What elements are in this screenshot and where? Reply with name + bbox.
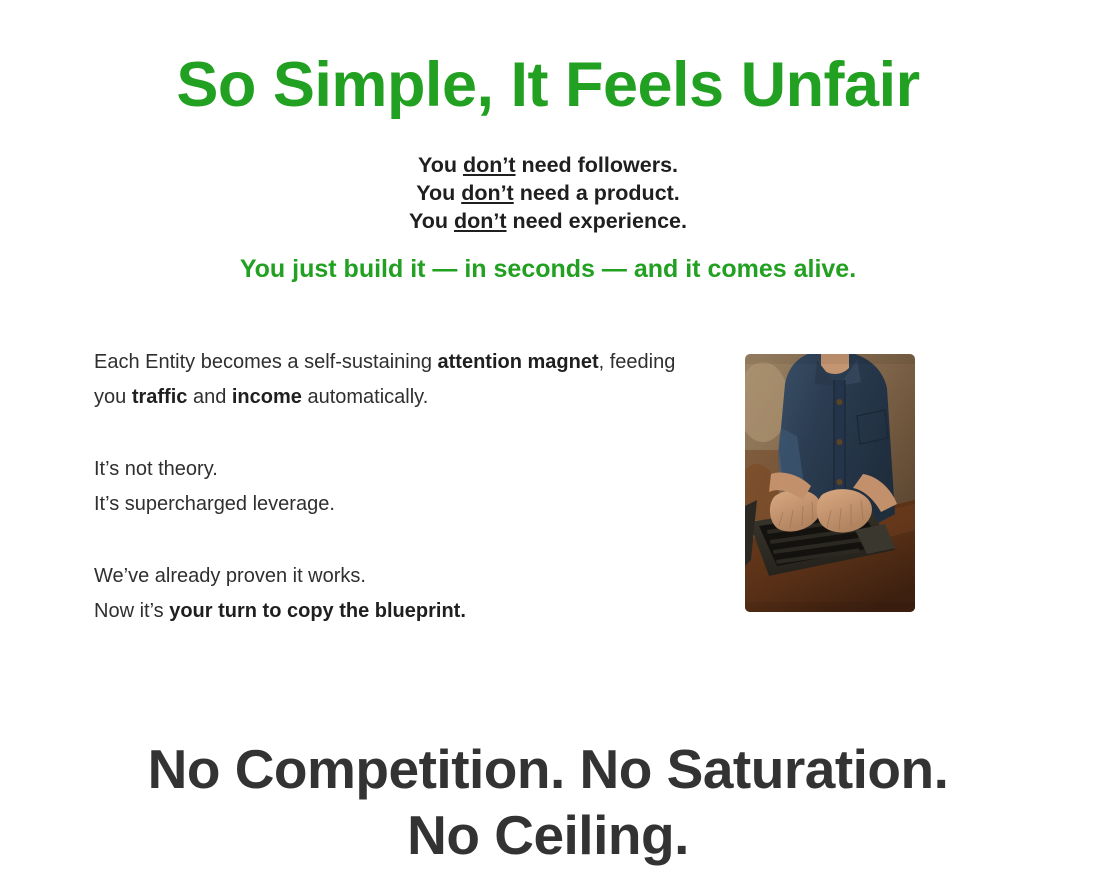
paragraph-1-part-4: automatically.	[302, 386, 428, 408]
paragraph-3-line-2-plain: Now it’s	[94, 600, 169, 622]
denial-line-1: You don’t need followers.	[0, 151, 1096, 179]
closing-headline: No Competition. No Saturation. No Ceilin…	[0, 736, 1096, 868]
paragraph-2-line-1: It’s not theory.	[94, 458, 218, 480]
closing-line-1: No Competition. No Saturation.	[148, 738, 949, 800]
denial-list: You don’t need followers. You don’t need…	[0, 151, 1096, 235]
body-paragraph-2: It’s not theory. It’s supercharged lever…	[94, 452, 694, 522]
closing-line-2: No Ceiling.	[407, 804, 689, 866]
paragraph-1-part-1: Each Entity becomes a self-sustaining	[94, 351, 438, 373]
paragraph-2-line-2: It’s supercharged leverage.	[94, 493, 335, 515]
paragraph-spacer	[94, 415, 694, 452]
denial-prefix: You	[418, 153, 463, 177]
page-title: So Simple, It Feels Unfair	[0, 52, 1096, 118]
denial-suffix: need followers.	[516, 153, 678, 177]
body-paragraph-3: We’ve already proven it works. Now it’s …	[94, 559, 694, 629]
denial-suffix: need experience.	[507, 209, 687, 233]
landing-page-section: So Simple, It Feels Unfair You don’t nee…	[0, 0, 1096, 888]
denial-prefix: You	[409, 209, 454, 233]
kicker-text: You just build it — in seconds — and it …	[0, 253, 1096, 285]
denial-prefix: You	[416, 181, 461, 205]
denial-line-2: You don’t need a product.	[0, 179, 1096, 207]
denial-suffix: need a product.	[514, 181, 680, 205]
denial-line-3: You don’t need experience.	[0, 207, 1096, 235]
paragraph-3-line-1: We’ve already proven it works.	[94, 565, 366, 587]
laptop-typing-photo	[745, 354, 915, 612]
denial-emphasis: don’t	[454, 209, 507, 233]
paragraph-spacer	[94, 522, 694, 559]
paragraph-3-line-2-bold: your turn to copy the blueprint.	[169, 600, 466, 622]
paragraph-1-part-3: and	[187, 386, 231, 408]
denial-emphasis: don’t	[461, 181, 514, 205]
paragraph-1-bold-3: income	[232, 386, 302, 408]
paragraph-1-bold-1: attention magnet	[438, 351, 599, 373]
photo-illustration	[745, 354, 915, 612]
body-paragraph-1: Each Entity becomes a self-sustaining at…	[94, 345, 694, 415]
body-copy-block: Each Entity becomes a self-sustaining at…	[94, 345, 694, 629]
denial-emphasis: don’t	[463, 153, 516, 177]
paragraph-1-bold-2: traffic	[132, 386, 188, 408]
